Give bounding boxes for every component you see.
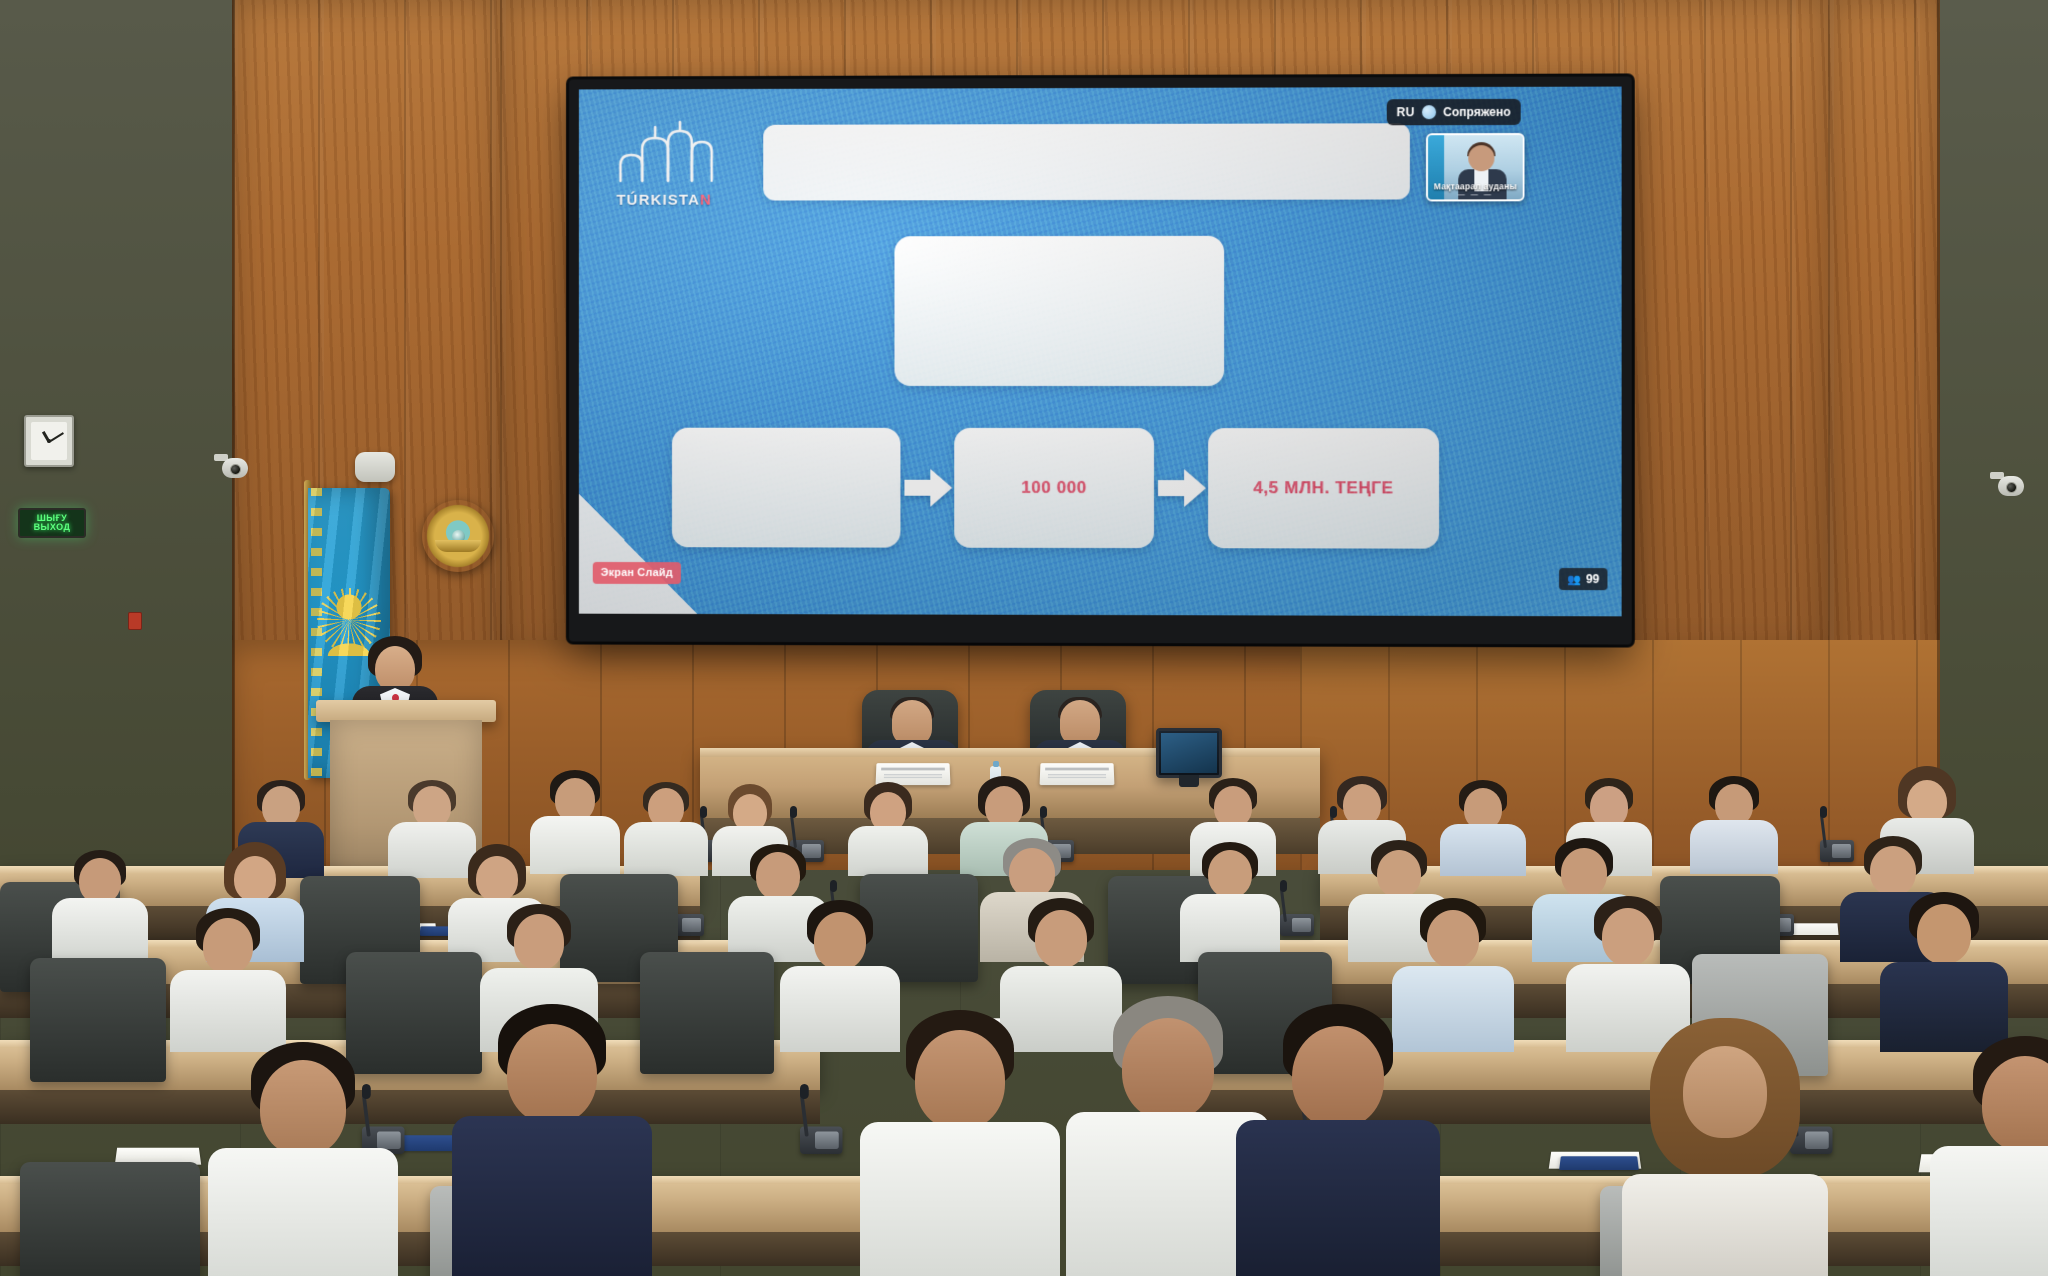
participant-count-badge[interactable]: 👥 99 (1559, 568, 1608, 590)
turkistan-wordmark: TÚRKISTAN (617, 192, 712, 209)
attendee (1880, 894, 2008, 1052)
wood-panel-right (1828, 0, 1940, 700)
attendee (1236, 1008, 1440, 1276)
conference-microphone[interactable] (800, 1127, 843, 1155)
led-presentation-screen[interactable]: TÚRKISTAN 100 000 (569, 76, 1632, 644)
attendee (170, 910, 286, 1052)
attendee (1180, 844, 1280, 962)
slide-title-bar (763, 123, 1410, 200)
security-camera-right-icon (1990, 470, 2024, 496)
wall-speaker-icon (355, 452, 395, 482)
attendee (1622, 1024, 1828, 1276)
audience-chair (20, 1162, 200, 1276)
pip-controls: — — — (1428, 191, 1523, 198)
participant-count-value: 99 (1586, 572, 1599, 586)
attendee (52, 852, 148, 962)
attendee (452, 1008, 652, 1276)
screen-share-tag: Экран Слайд (593, 562, 681, 584)
flow-step-1 (672, 428, 900, 548)
slide-top-card (894, 236, 1224, 386)
arrow-right-icon-2 (1152, 462, 1212, 514)
language-status-badge[interactable]: RU Сопряжено (1386, 99, 1520, 125)
flow-step-2: 100 000 (954, 428, 1154, 548)
security-camera-left-icon (214, 452, 248, 478)
wall-clock-icon (24, 415, 74, 467)
conference-hall-scene: ШЫҒУ ВЫХОД (0, 0, 2048, 1276)
kazakhstan-state-emblem (422, 500, 494, 572)
flow-step-2-value: 100 000 (1021, 478, 1087, 498)
wall-call-point (128, 612, 142, 630)
exit-sign-ru: ВЫХОД (34, 523, 71, 532)
attendee (1690, 778, 1778, 874)
turkistan-logo: TÚRKISTAN (615, 119, 742, 211)
flow-step-3-value: 4,5 МЛН. ТЕҢГЕ (1253, 478, 1393, 498)
flow-step-3: 4,5 МЛН. ТЕҢГЕ (1208, 428, 1439, 549)
attendee (1930, 1040, 2048, 1276)
slide-content: TÚRKISTAN 100 000 (579, 87, 1622, 617)
attendee (208, 1046, 398, 1276)
audience-chair (30, 958, 166, 1082)
attendee (1440, 782, 1526, 874)
language-badge-label: RU (1396, 105, 1414, 119)
connection-status-label: Сопряжено (1443, 105, 1511, 119)
arrow-right-icon-1 (898, 462, 958, 514)
desk-monitor (1156, 728, 1222, 778)
attendee (860, 1014, 1060, 1276)
wall-column-left (0, 0, 232, 1000)
attendee (624, 784, 708, 874)
attendee (848, 784, 928, 874)
screen-share-label: Экран Слайд (601, 567, 673, 579)
connected-dot-icon (1422, 105, 1436, 119)
participant-video-thumbnail[interactable]: Мақтаарал ауданы — — — (1426, 133, 1525, 201)
conference-microphone[interactable] (1280, 914, 1314, 936)
participant-name-label: Мақтаарал ауданы (1428, 181, 1523, 191)
podium-top (316, 700, 496, 722)
audience-chair (640, 952, 774, 1074)
exit-sign-icon: ШЫҒУ ВЫХОД (18, 508, 86, 538)
people-icon: 👥 (1567, 573, 1581, 586)
nameplate-right (1040, 763, 1115, 785)
